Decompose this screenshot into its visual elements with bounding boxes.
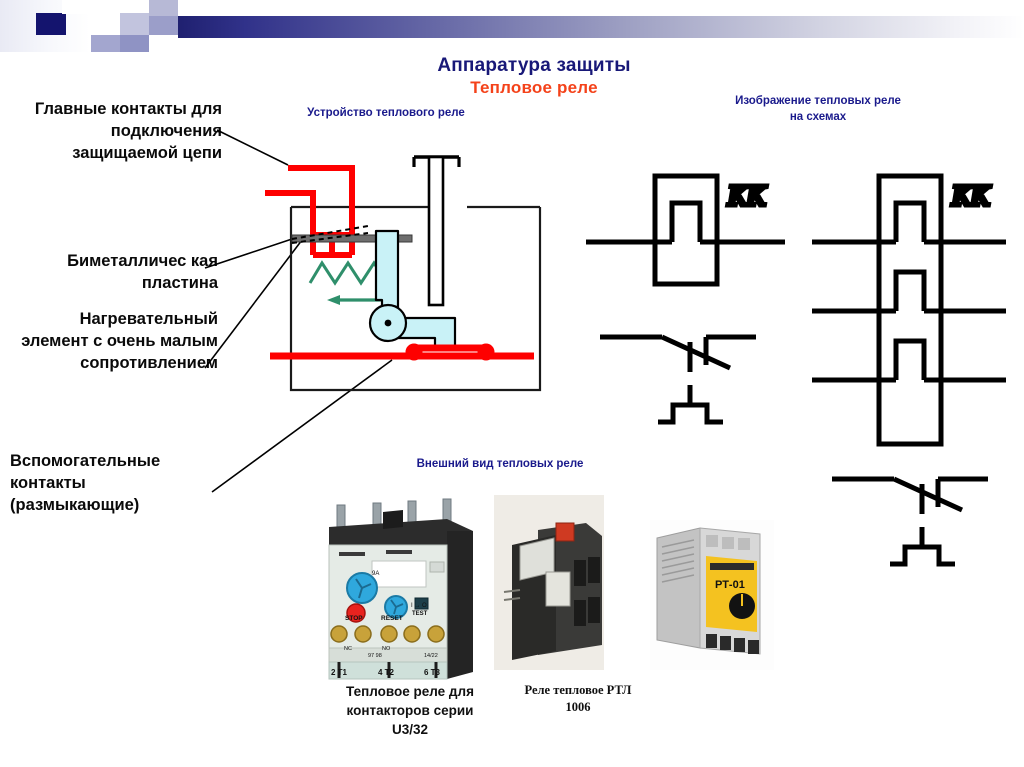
pushrod-shaft [429, 157, 443, 305]
leader-heating [205, 240, 302, 368]
relay1-slot-1 [339, 552, 365, 556]
relay1-label-14-22: 14/22 [424, 653, 438, 659]
symbol-nc-contact-right [832, 479, 988, 564]
photo-thermal-relay-rt-01: РТ-01 [650, 520, 774, 670]
aux-contact-dot-left [406, 344, 423, 361]
relay1-terminal-6t3: 6 T3 [424, 668, 441, 677]
relay1-label-test-mode: I → O [411, 603, 427, 609]
relay1-terminal-2t1: 2 T1 [331, 668, 348, 677]
relay3-panel-label: РТ-01 [715, 579, 745, 591]
relay3-panel-strip [710, 563, 754, 570]
relay1-label-test: TEST [412, 611, 428, 617]
schematic-symbols: KK [586, 176, 1006, 564]
relay1-post-1 [337, 505, 345, 527]
relay1-side-tab [430, 562, 444, 572]
relay-cutaway-diagram [265, 157, 540, 390]
relay1-label-nc: NC [344, 646, 352, 652]
relay1-post-2 [373, 503, 381, 525]
symbol-nc-contact-left [600, 337, 756, 422]
slide-canvas: Аппаратура защиты Тепловое реле Устройст… [0, 0, 1024, 767]
relay1-post-4 [443, 499, 451, 521]
relay1-slot-2 [386, 550, 412, 554]
leader-lines [205, 130, 392, 492]
return-spring [310, 263, 382, 283]
relay1-label-reset: RESET [381, 615, 403, 622]
relay1-terminal-4t2: 4 T2 [378, 668, 395, 677]
symbol-label-kk-left: KK [727, 181, 767, 212]
leader-bimetal [205, 239, 292, 268]
leader-aux [212, 360, 392, 492]
relay2-spec-plate [546, 572, 570, 606]
relay1-label-no: NO [382, 646, 391, 652]
relay1-top-tab [383, 510, 403, 529]
symbol-heater-three-pole [812, 176, 1006, 444]
relay1-label-stop: STOP [345, 615, 363, 622]
photo-thermal-relay-rtl-1006 [494, 495, 604, 670]
symbol-label-kk-right: KK [951, 181, 991, 212]
aux-contact-dot-right [478, 344, 495, 361]
lever-pivot-point [385, 320, 392, 327]
relay1-window [372, 561, 426, 587]
photo-thermal-relay-u3-32 [329, 499, 473, 679]
relay1-post-3 [408, 501, 416, 523]
spring-force-arrowhead [327, 295, 340, 305]
relay2-reset-button [556, 523, 574, 541]
relay1-label-97-98: 97 98 [368, 653, 382, 659]
leader-main-contacts [217, 130, 288, 165]
relay1-label-dial-max: 9A [372, 571, 379, 577]
relay1-right-body [447, 531, 473, 679]
vector-layer: KK [0, 0, 1024, 767]
